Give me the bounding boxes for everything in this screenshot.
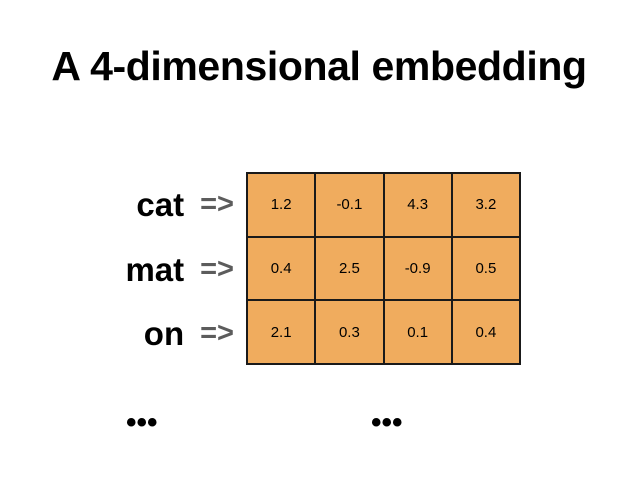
matrix-cell: 1.2 <box>248 174 316 236</box>
matrix-cell: -0.1 <box>316 174 384 236</box>
matrix-cell: -0.9 <box>385 238 453 300</box>
matrix-cell: 2.5 <box>316 238 384 300</box>
slide-canvas: A 4-dimensional embedding cat => mat => … <box>0 0 638 484</box>
word-label-on: on <box>144 317 184 350</box>
arrow-icon-on: => <box>200 319 234 348</box>
word-label-column: cat => mat => on => <box>30 172 242 366</box>
matrix-cell: 3.2 <box>453 174 519 236</box>
matrix-cell: 0.4 <box>248 238 316 300</box>
matrix-row: 0.4 2.5 -0.9 0.5 <box>248 238 519 302</box>
word-label-mat: mat <box>125 253 184 286</box>
embedding-illustration: cat => mat => on => 1.2 -0.1 4.3 3.2 0.4 <box>0 172 638 366</box>
word-row-on: on => <box>30 301 242 366</box>
embedding-matrix: 1.2 -0.1 4.3 3.2 0.4 2.5 -0.9 0.5 2.1 0.… <box>246 172 521 365</box>
word-row-cat: cat => <box>30 172 242 237</box>
matrix-cell: 2.1 <box>248 301 316 363</box>
matrix-cell: 0.3 <box>316 301 384 363</box>
matrix-row: 1.2 -0.1 4.3 3.2 <box>248 174 519 238</box>
matrix-cell: 0.1 <box>385 301 453 363</box>
arrow-icon-cat: => <box>200 190 234 219</box>
word-label-cat: cat <box>136 188 184 221</box>
word-row-mat: mat => <box>30 237 242 302</box>
matrix-row: 2.1 0.3 0.1 0.4 <box>248 301 519 363</box>
matrix-cell: 0.4 <box>453 301 519 363</box>
matrix-cell: 0.5 <box>453 238 519 300</box>
matrix-cell: 4.3 <box>385 174 453 236</box>
ellipsis-words: ••• <box>126 408 158 438</box>
arrow-icon-mat: => <box>200 255 234 284</box>
ellipsis-matrix: ••• <box>371 408 403 438</box>
page-title: A 4-dimensional embedding <box>0 44 638 88</box>
